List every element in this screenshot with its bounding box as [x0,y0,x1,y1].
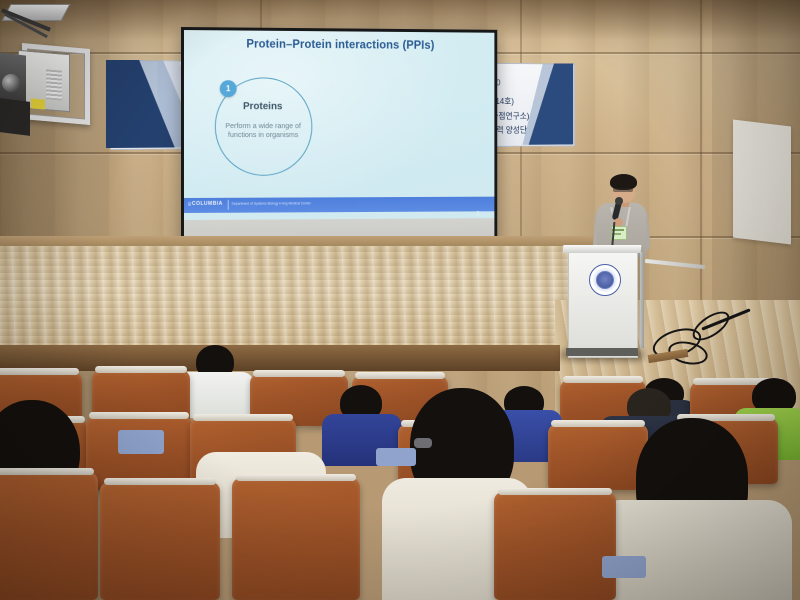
seat-cushion[interactable] [376,448,416,466]
projector-vent [46,69,62,100]
slide-circle-body: Perform a wide range of functions in org… [218,121,309,139]
microphone-head [615,197,623,205]
stage-floor [0,246,600,350]
university-seal-inner [596,271,614,289]
projector-lens [2,74,20,92]
lecture-hall-photo: Research Institute RIPS 계명대학교 20 ~ 18:00… [0,0,800,600]
podium-base [566,348,638,356]
podium-top-surface [563,245,642,253]
screen-surface: Protein–Protein interactions (PPIs) 1 Pr… [184,30,494,254]
seat[interactable] [100,482,220,600]
slide-footer-bar [184,197,494,213]
hair-tie [414,438,432,448]
seat-cushion[interactable] [118,430,164,454]
divider [228,200,229,210]
seat[interactable] [0,472,98,600]
stage-front-edge [0,345,560,371]
projector-shadow-block [0,98,30,136]
seat[interactable] [232,478,360,600]
mic-stand-post [640,252,644,348]
projector-sticker [31,98,45,109]
slide-step-badge: 1 [220,80,237,97]
seat[interactable] [494,492,616,600]
speaker-glasses [613,188,633,192]
slide-circle-heading: Proteins [215,101,311,112]
seat[interactable] [548,424,648,490]
slide-page-number: 2 [476,211,479,217]
projected-slide: Protein–Protein interactions (PPIs) 1 Pr… [184,30,494,220]
projection-screen: Protein–Protein interactions (PPIs) 1 Pr… [181,27,497,258]
slide-title: Protein–Protein interactions (PPIs) [184,38,494,52]
slide-footer-logo: COLUMBIA [192,201,223,207]
wall-access-panel [733,119,791,244]
person-long-hair-right-body [596,500,792,600]
slide-footer-subtitle: Department of Systems Biology Irving Med… [232,201,311,206]
seat-cushion[interactable] [602,556,646,578]
